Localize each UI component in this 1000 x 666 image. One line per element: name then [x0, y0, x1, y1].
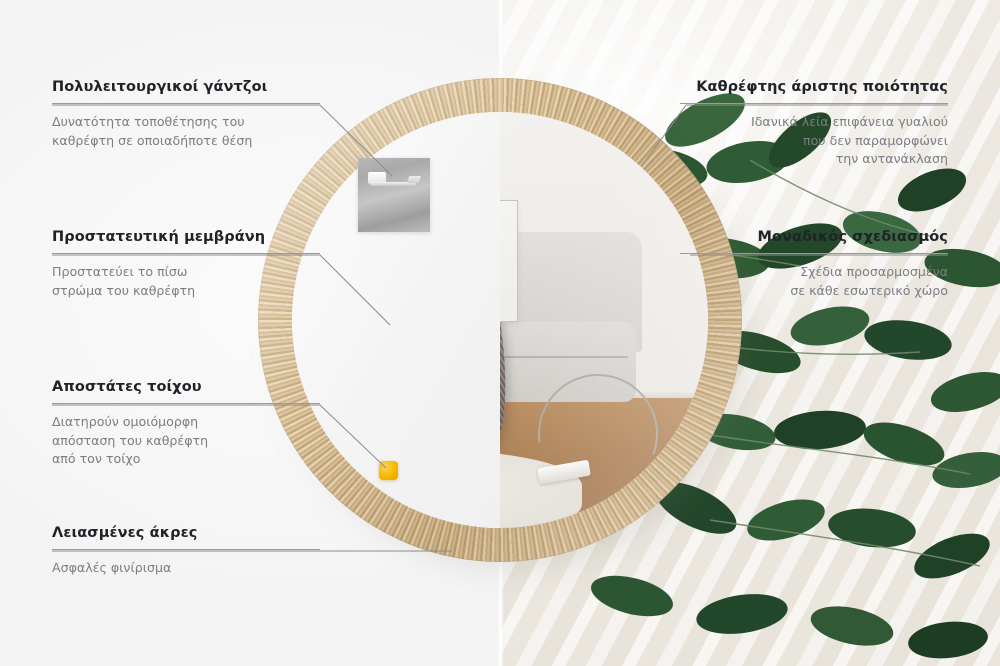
callout-description: Ασφαλές φινίρισμα [52, 559, 320, 577]
callout-title: Αποστάτες τοίχου [52, 378, 320, 396]
callout-title: Προστατευτική μεμβράνη [52, 228, 320, 246]
callout-rule [52, 549, 320, 550]
callout-rule [52, 403, 320, 404]
round-mirror [258, 78, 742, 562]
callout-description: Ιδανικά λεία επιφάνεια γυαλιού που δεν π… [680, 113, 948, 168]
callout-protective-membrane: Προστατευτική μεμβράνη Προστατεύει το πί… [52, 228, 320, 300]
callout-polished-edges: Λειασμένες άκρες Ασφαλές φινίρισμα [52, 524, 320, 578]
callout-description: Προστατεύει το πίσω στρώμα του καθρέφτη [52, 263, 320, 300]
callout-multifunctional-hooks: Πολυλειτουργικοί γάντζοι Δυνατότητα τοπο… [52, 78, 320, 150]
callout-rule [52, 103, 320, 104]
callout-description: Διατηρούν ομοιόμορφη απόσταση του καθρέφ… [52, 413, 320, 468]
callout-title: Λειασμένες άκρες [52, 524, 320, 542]
yellow-wall-spacer [379, 461, 398, 480]
reflected-line-art-poster [500, 200, 518, 322]
callout-title: Μοναδικός σχεδιασμός [680, 228, 948, 246]
callout-rule [52, 253, 320, 254]
callout-rule [680, 103, 948, 104]
callout-rule [680, 253, 948, 254]
infographic-canvas: Πολυλειτουργικοί γάντζοι Δυνατότητα τοπο… [0, 0, 1000, 666]
hook-tip-icon [407, 176, 421, 183]
mirror-glass [292, 112, 708, 528]
callout-title: Καθρέφτης άριστης ποιότητας [680, 78, 948, 96]
callout-description: Σχέδια προσαρμοσμένα σε κάθε εσωτερικό χ… [680, 263, 948, 300]
reflected-sofa-seam [500, 356, 628, 358]
callout-title: Πολυλειτουργικοί γάντζοι [52, 78, 320, 96]
callout-description: Δυνατότητα τοποθέτησης του καθρέφτη σε ο… [52, 113, 320, 150]
callout-unique-design: Μοναδικός σχεδιασμός Σχέδια προσαρμοσμέν… [680, 228, 948, 300]
mirror-reflection [500, 112, 708, 528]
hook-mounting-plate [358, 158, 430, 232]
callout-wall-spacers: Αποστάτες τοίχου Διατηρούν ομοιόμορφη απ… [52, 378, 320, 468]
callout-top-quality-mirror: Καθρέφτης άριστης ποιότητας Ιδανικά λεία… [680, 78, 948, 168]
